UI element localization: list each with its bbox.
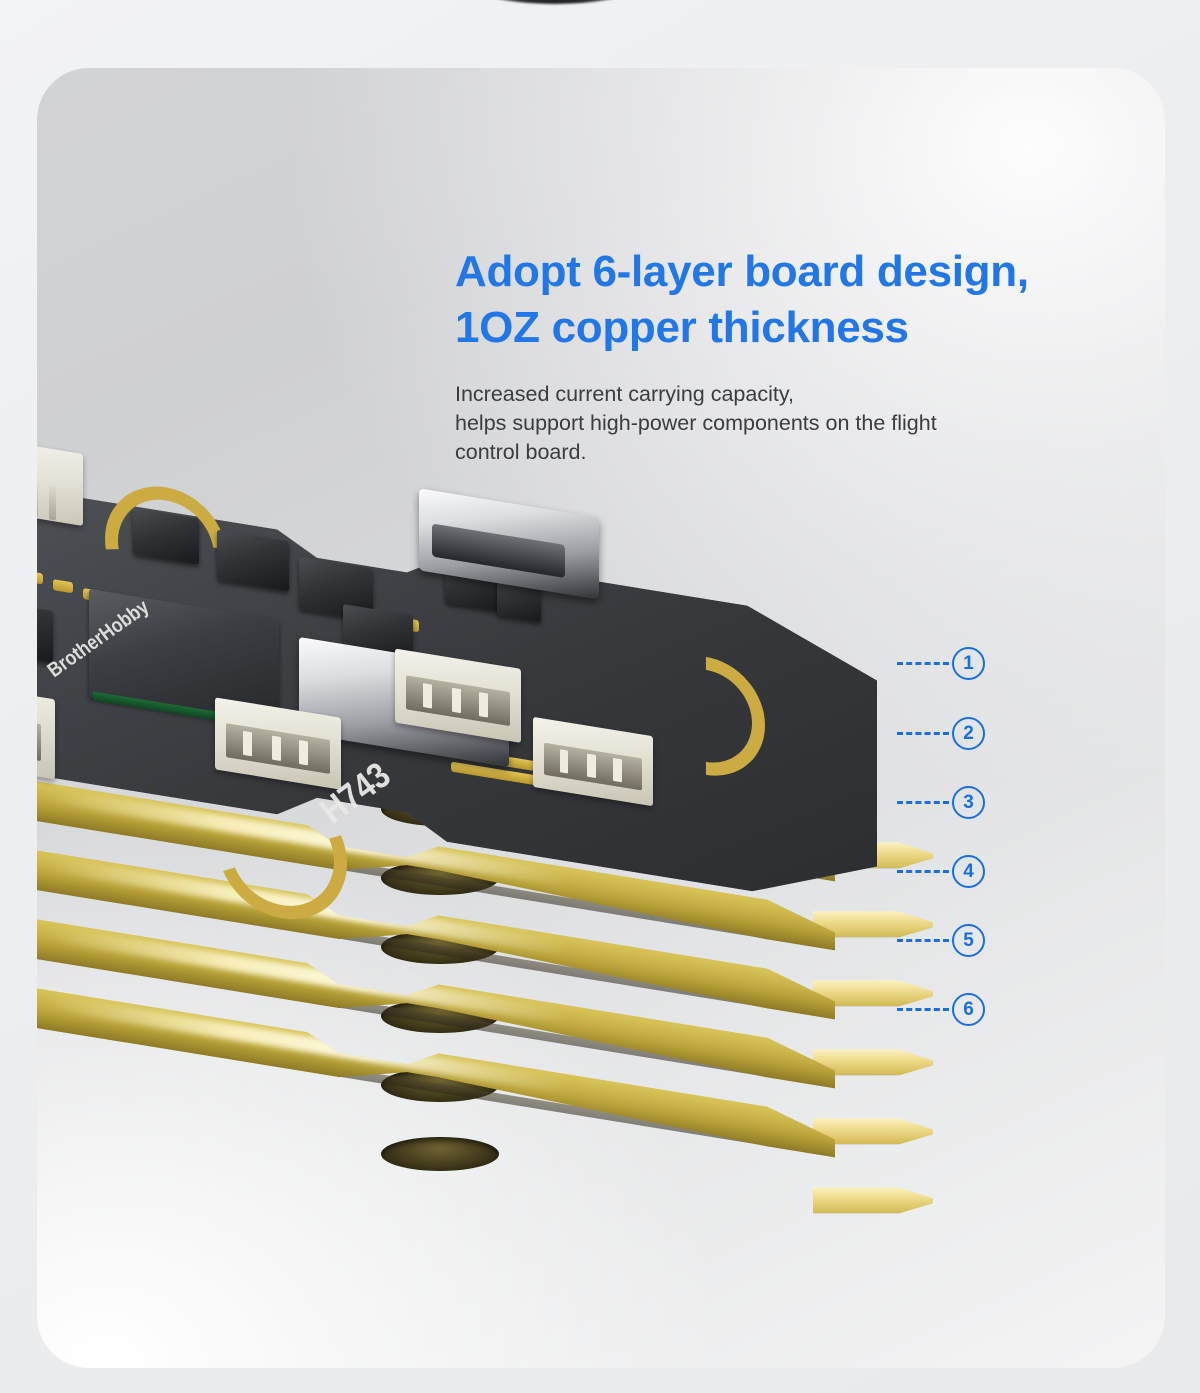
leader-line [897,939,949,942]
plated-via-hole [381,1137,499,1171]
feature-card: Adopt 6-layer board design, 1OZ copper t… [37,68,1165,1368]
leader-line [897,732,949,735]
layer-tab-6 [813,1187,933,1213]
callout-number-badge: 6 [952,993,985,1026]
callout-number-badge: 5 [952,924,985,957]
connector-mouth [37,704,41,761]
product-feature-section: Adopt 6-layer board design, 1OZ copper t… [0,0,1200,1393]
page-title: Adopt 6-layer board design, 1OZ copper t… [455,244,1075,356]
headline-line-2: 1OZ copper thickness [455,300,1075,356]
connector-mouth [406,675,509,726]
callout-number-badge: 3 [952,786,985,819]
page-subtitle: Increased current carrying capacity, hel… [455,380,1115,467]
pcb-layer-stack-illustration: BrotherHobby H743 TX3 [37,498,997,1368]
subtitle-line-2: helps support high-power components on t… [455,409,1115,438]
headline-line-1: Adopt 6-layer board design, [455,244,1075,300]
pin-header-shell [37,430,83,526]
callout-2[interactable]: 2 [897,718,985,748]
callout-number-badge: 4 [952,855,985,888]
callout-4[interactable]: 4 [897,856,985,886]
subtitle-line-3: control board. [455,438,1115,467]
subtitle-line-1: Increased current carrying capacity, [455,380,1115,409]
callout-number-badge: 2 [952,717,985,750]
leader-line [897,662,949,665]
callout-number-badge: 1 [952,647,985,680]
callout-3[interactable]: 3 [897,787,985,817]
callout-1[interactable]: 1 [897,648,985,678]
copper-layer-6 [37,1048,957,1198]
callout-5[interactable]: 5 [897,925,985,955]
leader-line [897,870,949,873]
usb-c-slot [432,523,565,577]
leader-line [897,801,949,804]
callout-6[interactable]: 6 [897,994,985,1024]
leader-line [897,1008,949,1011]
connector-mouth [226,724,329,774]
previous-section-sliver [455,0,655,4]
connector-mouth [544,742,642,790]
